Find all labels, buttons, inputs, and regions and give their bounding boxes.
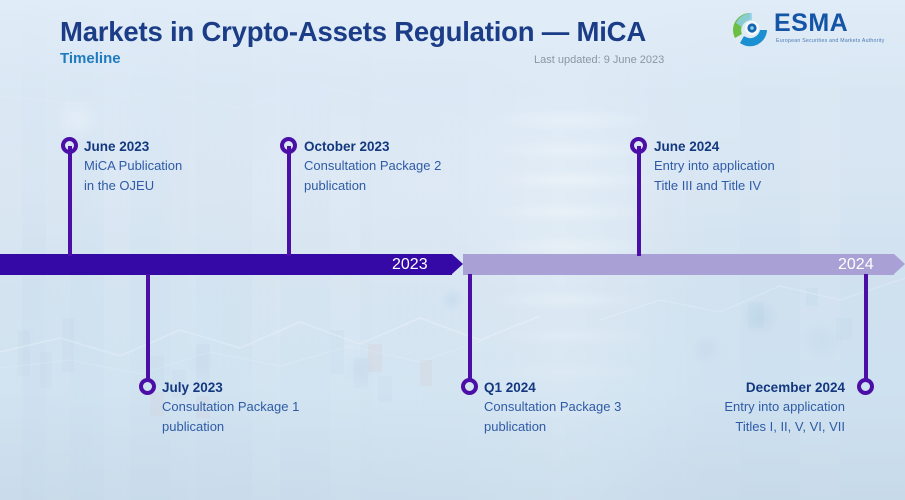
event-text-block: June 2023 MiCA Publication in the OJEU: [84, 138, 182, 196]
event-date: October 2023: [304, 138, 441, 156]
last-updated-text: Last updated: 9 June 2023: [534, 54, 664, 66]
event-stem: [637, 146, 641, 256]
event-date: June 2024: [654, 138, 775, 156]
event-line-1: Entry into application: [605, 397, 845, 417]
timeline-segment-2024: [463, 254, 894, 275]
timeline-bar: 2023 2024: [0, 254, 905, 276]
timeline-segment-2024-arrow: [894, 254, 905, 274]
event-marker-icon[interactable]: [461, 378, 478, 395]
event-line-2: publication: [484, 417, 621, 437]
event-date: July 2023: [162, 379, 299, 397]
timeline-year-label-2023: 2023: [392, 255, 428, 274]
event-date: June 2023: [84, 138, 182, 156]
event-text-block: July 2023 Consultation Package 1 publica…: [162, 379, 299, 437]
esma-circle-logo-icon: [730, 10, 770, 50]
event-date: December 2024: [605, 379, 845, 397]
event-stem: [68, 146, 72, 256]
event-marker-icon[interactable]: [61, 137, 78, 154]
event-date: Q1 2024: [484, 379, 621, 397]
esma-wordmark: ESMA: [774, 10, 848, 37]
event-marker-icon[interactable]: [857, 378, 874, 395]
event-marker-icon[interactable]: [280, 137, 297, 154]
event-text-block: October 2023 Consultation Package 2 publ…: [304, 138, 441, 196]
timeline-segment-2023-arrow: [452, 254, 463, 274]
event-marker-icon[interactable]: [139, 378, 156, 395]
event-stem: [864, 274, 868, 382]
event-stem: [468, 274, 472, 382]
header: Markets in Crypto-Assets Regulation — Mi…: [0, 0, 905, 100]
event-line-2: Title III and Title IV: [654, 176, 775, 196]
event-line-1: Consultation Package 3: [484, 397, 621, 417]
event-line-1: Consultation Package 1: [162, 397, 299, 417]
page-subtitle: Timeline: [60, 50, 121, 67]
esma-logo: ESMA European Securities and Markets Aut…: [730, 8, 890, 54]
event-text-block: December 2024 Entry into application Tit…: [605, 379, 845, 437]
event-text-block: Q1 2024 Consultation Package 3 publicati…: [484, 379, 621, 437]
event-line-2: Titles I, II, V, VI, VII: [605, 417, 845, 437]
event-stem: [287, 146, 291, 256]
event-marker-icon[interactable]: [630, 137, 647, 154]
event-text-block: June 2024 Entry into application Title I…: [654, 138, 775, 196]
event-line-2: publication: [162, 417, 299, 437]
event-line-2: in the OJEU: [84, 176, 182, 196]
esma-tagline: European Securities and Markets Authorit…: [776, 38, 885, 44]
event-line-1: Entry into application: [654, 156, 775, 176]
event-line-1: Consultation Package 2: [304, 156, 441, 176]
event-line-1: MiCA Publication: [84, 156, 182, 176]
timeline-year-label-2024: 2024: [838, 255, 874, 274]
event-stem: [146, 274, 150, 382]
timeline-segment-2023: [0, 254, 452, 275]
page-title: Markets in Crypto-Assets Regulation — Mi…: [60, 16, 646, 48]
event-line-2: publication: [304, 176, 441, 196]
mica-timeline-infographic: Markets in Crypto-Assets Regulation — Mi…: [0, 0, 905, 500]
